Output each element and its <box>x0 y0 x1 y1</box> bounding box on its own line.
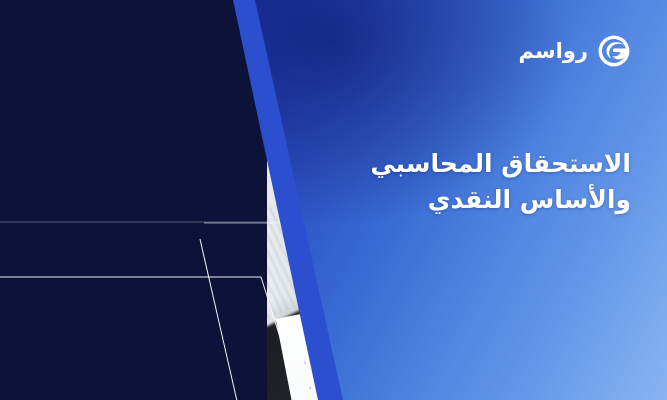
rawasem-e-swirl-icon <box>597 34 631 68</box>
brand-logo[interactable]: رواسم <box>519 34 631 68</box>
promo-banner: 02 46 JFM AMJ JAS 100% 50% 25% <box>0 0 667 400</box>
headline-line-2: والأساس النقدي <box>301 182 631 218</box>
page-title: الاستحقاق المحاسبي والأساس النقدي <box>301 146 631 217</box>
brand-name: رواسم <box>519 41 588 62</box>
headline-line-1: الاستحقاق المحاسبي <box>301 146 631 182</box>
